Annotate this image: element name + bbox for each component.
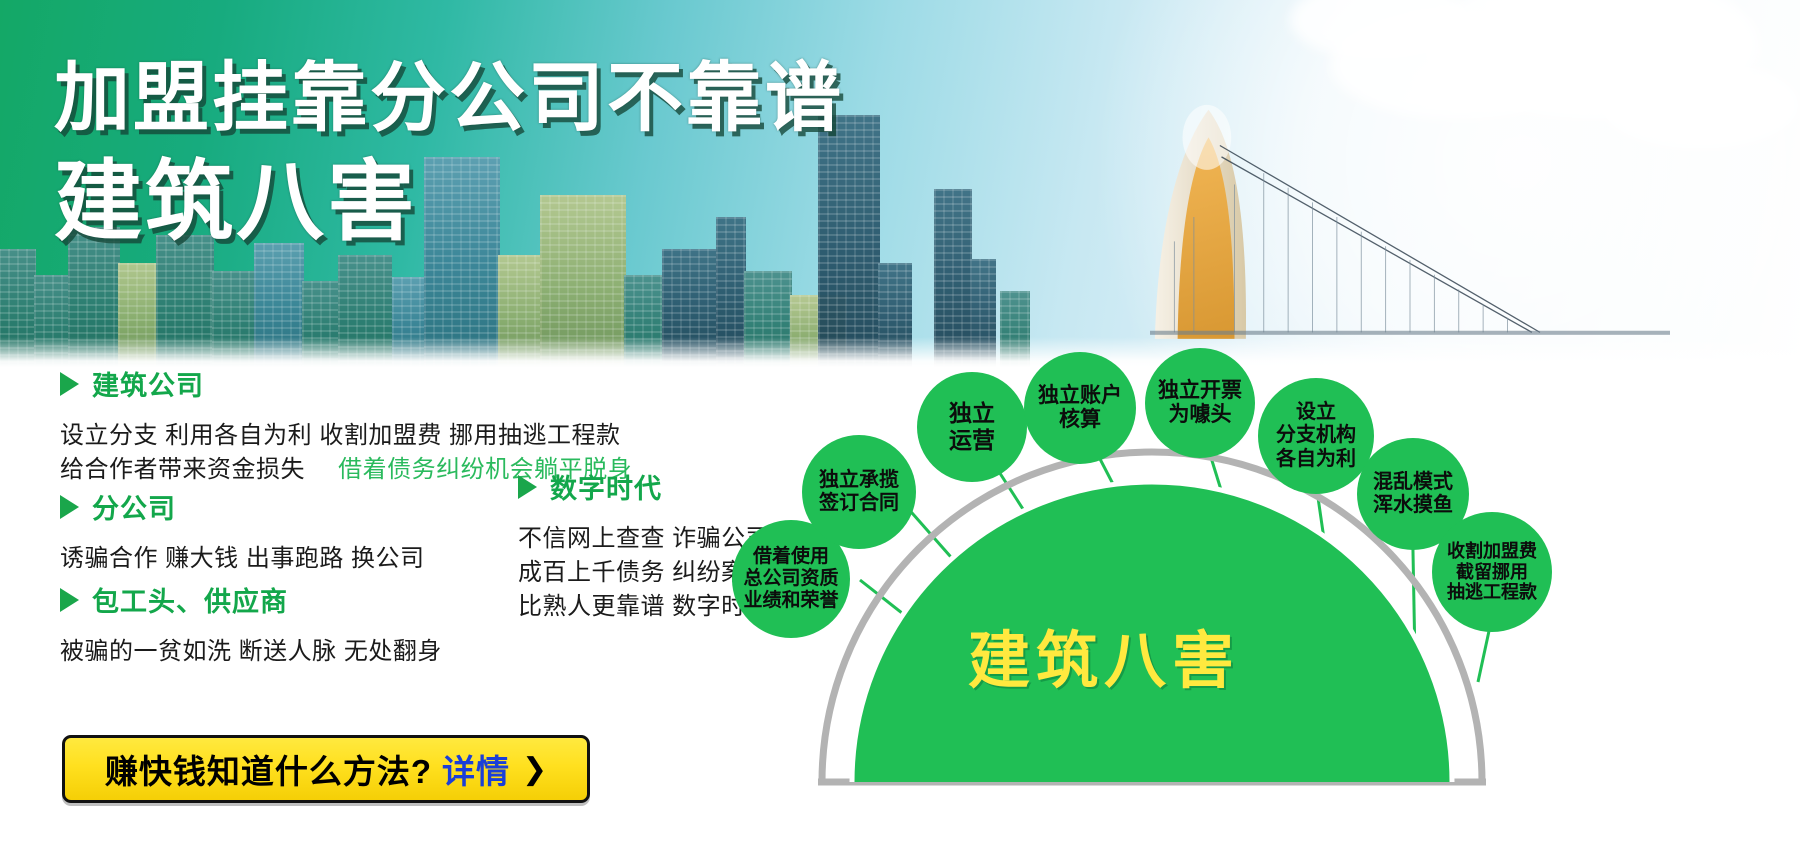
section-contractor-supplier: 包工头、供应商 被骗的一贫如洗 断送人脉 无处翻身 (60, 580, 442, 669)
section-line: 被骗的一贫如洗 断送人脉 无处翻身 (60, 635, 442, 669)
bubble-label: 借着使用 总公司资质 业绩和荣誉 (743, 546, 838, 612)
hero-title-line1: 加盟挂靠分公司不靠谱 (54, 58, 844, 140)
triangle-bullet-icon (60, 495, 79, 519)
hero-title-line2: 建筑八害 (54, 154, 844, 249)
bubble-label: 独立承揽 签订合同 (819, 469, 899, 515)
section-header: 分公司 (60, 487, 425, 526)
bubble-independent-contracting[interactable]: 独立承揽 签订合同 (802, 435, 916, 549)
triangle-bullet-icon (60, 372, 79, 396)
poster-root: 加盟挂靠分公司不靠谱 建筑八害 建筑公司 设立分支 利用各自为利 收割加盟费 挪… (0, 0, 1800, 844)
cta-details-link[interactable]: 详情 (442, 745, 510, 793)
bubble-independent-account[interactable]: 独立账户 核算 (1024, 352, 1136, 464)
triangle-bullet-icon (60, 588, 79, 612)
bubble-label: 混乱模式 浑水摸鱼 (1373, 471, 1453, 517)
bubble-independent-operation[interactable]: 独立 运营 (917, 372, 1027, 482)
section-body: 诱骗合作 赚大钱 出事跑路 换公司 (60, 542, 425, 576)
bubble-label: 独立开票 为噱头 (1158, 379, 1242, 428)
bubble-label: 收割加盟费 截留挪用 抽逃工程款 (1447, 541, 1537, 604)
bubble-independent-invoicing[interactable]: 独立开票 为噱头 (1145, 348, 1255, 458)
bubble-setup-branch[interactable]: 设立 分支机构 各自为利 (1258, 378, 1374, 494)
section-header: 数字时代 (518, 467, 770, 506)
bubble-diagram: 建筑八害 借着使用 总公司资质 业绩和荣誉 独立承揽 签订合同 独立 运营 独立… (800, 330, 1800, 844)
cta-label: 赚快钱知道什么方法? (105, 745, 432, 793)
dome-label: 建筑八害 (968, 610, 1240, 700)
section-title: 建筑公司 (92, 364, 204, 403)
section-title: 数字时代 (550, 467, 662, 506)
triangle-bullet-icon (518, 475, 537, 499)
section-digital-era: 数字时代 不信网上查查 诈骗公司 成百上千债务 纠纷案件 比熟人更靠谱 数字时代 (518, 467, 770, 624)
section-header: 建筑公司 (60, 364, 632, 403)
bubble-harvest-franchise-fee[interactable]: 收割加盟费 截留挪用 抽逃工程款 (1432, 512, 1552, 632)
bubble-label: 设立 分支机构 各自为利 (1276, 401, 1356, 471)
left-content-column: 建筑公司 设立分支 利用各自为利 收割加盟费 挪用抽逃工程款 给合作者带来资金损… (0, 372, 810, 844)
section-header: 包工头、供应商 (60, 580, 442, 619)
section-body: 被骗的一贫如洗 断送人脉 无处翻身 (60, 635, 442, 669)
bubble-label: 独立 运营 (949, 400, 995, 453)
section-title: 包工头、供应商 (92, 580, 288, 619)
section-line-part: 给合作者带来资金损失 (60, 456, 305, 483)
hero-banner: 加盟挂靠分公司不靠谱 建筑八害 (0, 0, 1800, 367)
chevron-right-icon: ❯ (522, 752, 547, 787)
section-line: 设立分支 利用各自为利 收割加盟费 挪用抽逃工程款 (60, 419, 632, 453)
section-title: 分公司 (92, 487, 176, 526)
section-line: 不信网上查查 诈骗公司 (518, 522, 770, 556)
bridge-illustration (1150, 67, 1670, 367)
bubble-label: 独立账户 核算 (1038, 384, 1122, 433)
section-line: 诱骗合作 赚大钱 出事跑路 换公司 (60, 542, 425, 576)
section-branch-company: 分公司 诱骗合作 赚大钱 出事跑路 换公司 (60, 487, 425, 576)
hero-title: 加盟挂靠分公司不靠谱 建筑八害 (54, 58, 844, 249)
cta-button[interactable]: 赚快钱知道什么方法? 详情 ❯ (62, 735, 590, 803)
section-line: 比熟人更靠谱 数字时代 (518, 590, 770, 624)
